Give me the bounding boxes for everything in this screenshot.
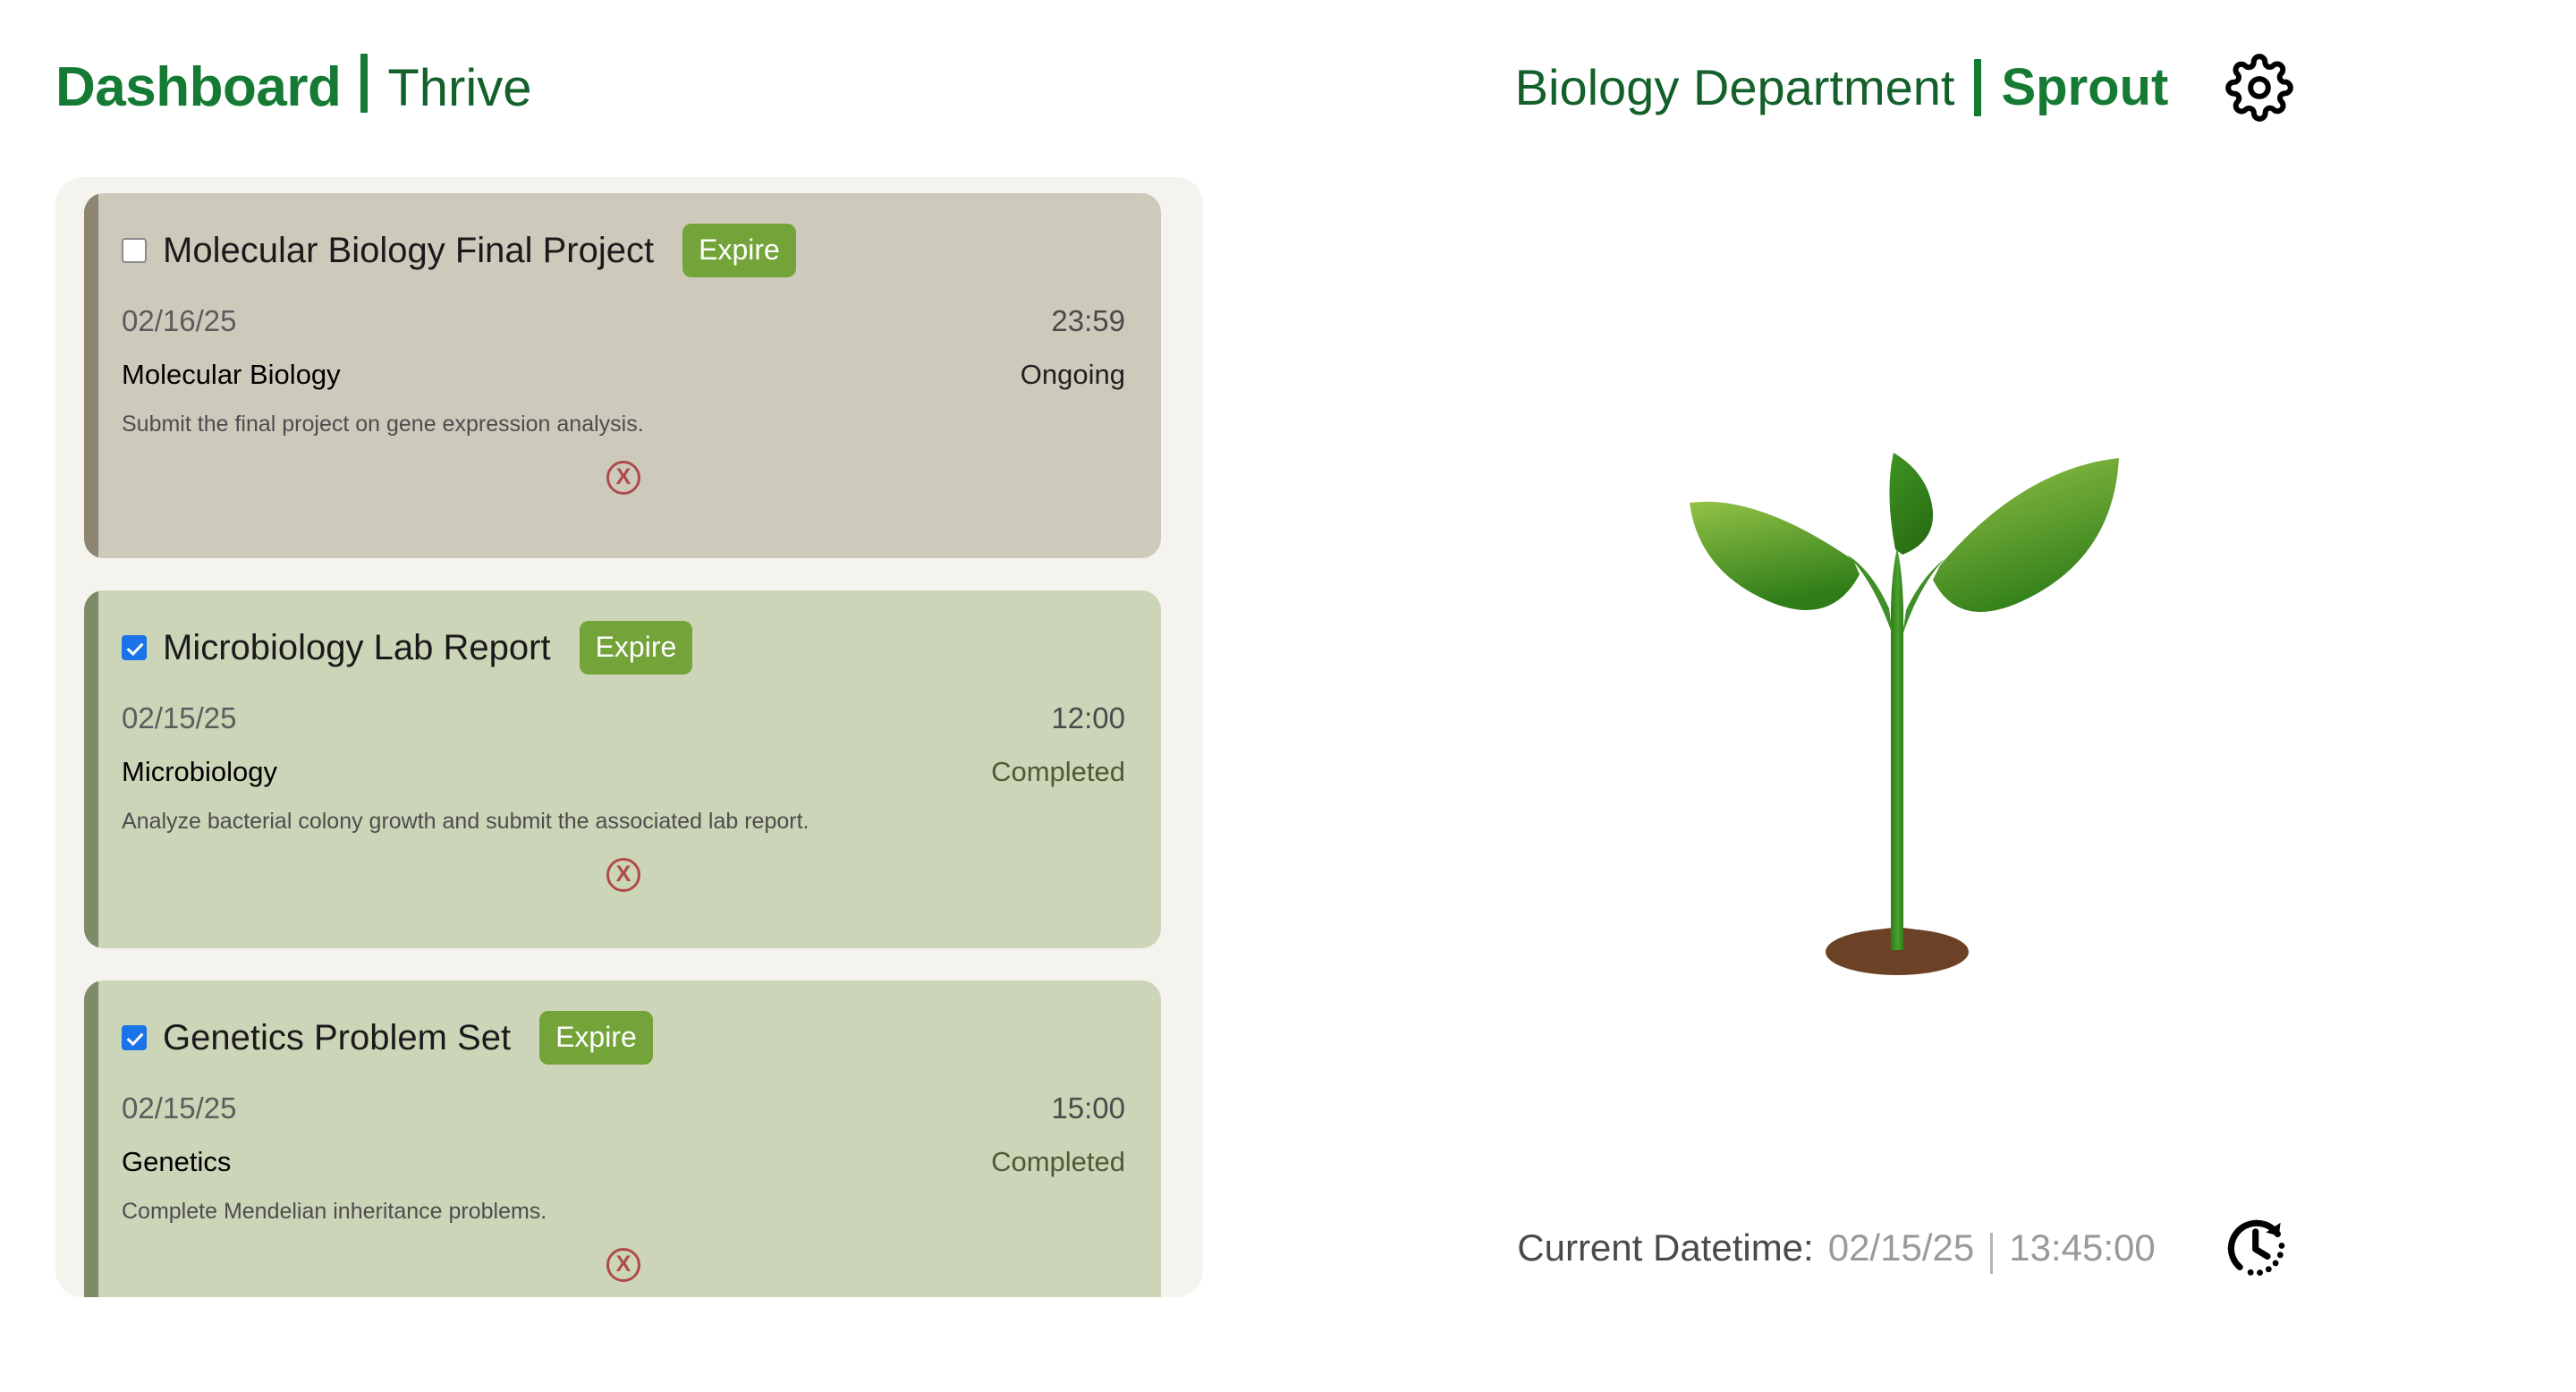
task-date-row: 02/16/25 23:59: [122, 304, 1125, 338]
current-datetime-bar: Current Datetime: 02/15/25 13:45:00: [1233, 1213, 2576, 1283]
task-delete-row: X: [122, 461, 1125, 495]
gear-icon[interactable]: [2225, 54, 2293, 122]
plant-stem: [1891, 547, 1903, 950]
task-time: 23:59: [1051, 304, 1125, 338]
task-subject: Molecular Biology: [122, 358, 341, 392]
task-subject: Genetics: [122, 1145, 231, 1179]
task-date: 02/15/25: [122, 701, 236, 735]
delete-task-icon[interactable]: X: [606, 1248, 640, 1282]
task-description: Analyze bacterial colony growth and subm…: [122, 809, 1125, 835]
task-status: Completed: [991, 755, 1125, 789]
task-time: 12:00: [1051, 701, 1125, 735]
datetime-separator: [1990, 1233, 1993, 1274]
task-card[interactable]: Genetics Problem Set Expire 02/15/25 15:…: [84, 980, 1161, 1297]
task-subject-row: Molecular Biology Ongoing: [122, 358, 1125, 392]
department-name: Biology Department: [1515, 63, 1955, 113]
task-delete-row: X: [122, 858, 1125, 892]
task-checkbox[interactable]: [122, 238, 147, 263]
expire-button[interactable]: Expire: [682, 224, 796, 277]
task-status: Completed: [991, 1145, 1125, 1179]
task-title: Molecular Biology Final Project: [163, 233, 654, 268]
task-date: 02/15/25: [122, 1091, 236, 1125]
current-date: 02/15/25: [1828, 1226, 1975, 1269]
right-panel: Biology Department Sprout: [1233, 0, 2576, 1392]
task-description: Submit the final project on gene express…: [122, 412, 1125, 437]
plant-leaf-left: [1690, 502, 1860, 610]
header-separator: [1974, 59, 1981, 116]
sprout-plant: [1672, 340, 2137, 984]
right-header: Biology Department Sprout: [1233, 0, 2576, 122]
task-subject: Microbiology: [122, 755, 277, 789]
left-header: Dashboard Thrive: [0, 0, 1233, 115]
app-name-thrive: Thrive: [387, 63, 531, 115]
task-date: 02/16/25: [122, 304, 236, 338]
app-name-sprout: Sprout: [2001, 62, 2168, 114]
dashboard-app: Dashboard Thrive Molecular Biology Final…: [0, 0, 2576, 1392]
task-date-row: 02/15/25 15:00: [122, 1091, 1125, 1125]
delete-task-icon[interactable]: X: [606, 461, 640, 495]
task-subject-row: Genetics Completed: [122, 1145, 1125, 1179]
plant-leaf-right: [1933, 458, 2119, 612]
expire-button[interactable]: Expire: [580, 621, 693, 675]
task-description: Complete Mendelian inheritance problems.: [122, 1199, 1125, 1225]
task-card[interactable]: Molecular Biology Final Project Expire 0…: [84, 193, 1161, 558]
left-panel: Dashboard Thrive Molecular Biology Final…: [0, 0, 1233, 1392]
task-card[interactable]: Microbiology Lab Report Expire 02/15/25 …: [84, 590, 1161, 948]
task-status: Ongoing: [1021, 358, 1125, 392]
page-title: Dashboard: [55, 60, 341, 115]
task-checkbox[interactable]: [122, 635, 147, 660]
datetime-label: Current Datetime:: [1517, 1226, 1813, 1269]
task-list-scroll-container[interactable]: Molecular Biology Final Project Expire 0…: [55, 177, 1203, 1297]
header-separator: [360, 54, 368, 113]
clock-history-icon[interactable]: [2222, 1213, 2292, 1283]
task-title-row: Molecular Biology Final Project Expire: [122, 224, 1125, 277]
task-title-row: Genetics Problem Set Expire: [122, 1011, 1125, 1065]
sprout-illustration-area: [1233, 215, 2576, 1109]
task-title-row: Microbiology Lab Report Expire: [122, 621, 1125, 675]
task-list: Molecular Biology Final Project Expire 0…: [55, 177, 1203, 1297]
delete-task-icon[interactable]: X: [606, 858, 640, 892]
expire-button[interactable]: Expire: [539, 1011, 653, 1065]
task-delete-row: X: [122, 1248, 1125, 1282]
plant-bud: [1889, 453, 1933, 555]
task-date-row: 02/15/25 12:00: [122, 701, 1125, 735]
current-time: 13:45:00: [2009, 1226, 2156, 1269]
task-checkbox[interactable]: [122, 1025, 147, 1050]
task-title: Genetics Problem Set: [163, 1020, 511, 1056]
task-subject-row: Microbiology Completed: [122, 755, 1125, 789]
task-time: 15:00: [1051, 1091, 1125, 1125]
task-title: Microbiology Lab Report: [163, 630, 551, 666]
